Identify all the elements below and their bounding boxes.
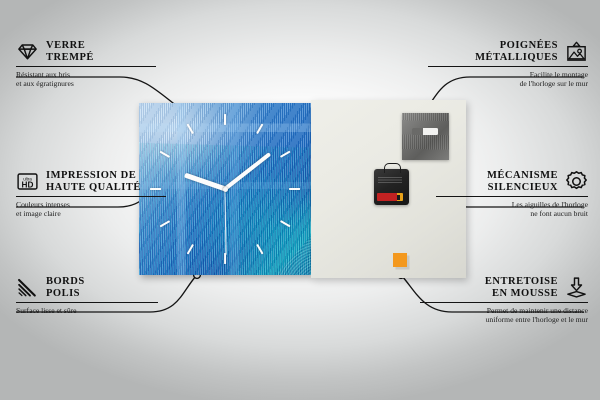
diamond-icon bbox=[16, 40, 39, 63]
feature-header: VERRE TREMPÉ bbox=[16, 40, 156, 63]
feature-title: MÉCANISME SILENCIEUX bbox=[487, 170, 558, 193]
feature-entretoise-en-mousse: ENTRETOISE EN MOUSSE Permet de maintenir… bbox=[420, 276, 588, 324]
metal-hanger-plate bbox=[402, 113, 449, 160]
feature-mecanisme-silencieux: MÉCANISME SILENCIEUX Les aiguilles de l'… bbox=[436, 170, 588, 218]
feature-impression-haute-qualite: ultra HD IMPRESSION DE HAUTE QUALITÉ Cou… bbox=[16, 170, 166, 218]
hanger-slot bbox=[412, 128, 438, 135]
feature-verre-trempe: VERRE TREMPÉ Résistant aux bris et aux é… bbox=[16, 40, 156, 88]
feature-header: ENTRETOISE EN MOUSSE bbox=[420, 276, 588, 299]
feature-divider bbox=[428, 66, 588, 67]
feature-description: Surface lisse et sûre bbox=[16, 306, 158, 315]
ultra-hd-icon: ultra HD bbox=[16, 170, 39, 193]
clock-mechanism-box bbox=[374, 169, 409, 205]
foam-spacer-icon bbox=[565, 276, 588, 299]
feature-title: POIGNÉES MÉTALLIQUES bbox=[475, 40, 558, 63]
ultra-hd-icon-main-text: HD bbox=[22, 180, 34, 189]
infographic-canvas: VERRE TREMPÉ Résistant aux bris et aux é… bbox=[0, 0, 600, 400]
mechanism-hanging-loop bbox=[384, 163, 401, 173]
feature-description: Facilite le montage de l'horloge sur le … bbox=[428, 70, 588, 88]
clock-center-cap bbox=[223, 187, 228, 192]
foam-spacer bbox=[393, 253, 407, 267]
feature-title: ENTRETOISE EN MOUSSE bbox=[485, 276, 558, 299]
feature-bords-polis: BORDS POLIS Surface lisse et sûre bbox=[16, 276, 158, 315]
feature-header: BORDS POLIS bbox=[16, 276, 158, 299]
clock-tick bbox=[225, 188, 301, 190]
feature-description: Couleurs intenses et image claire bbox=[16, 200, 166, 218]
feature-divider bbox=[16, 302, 158, 303]
clock-tick bbox=[224, 113, 226, 189]
mechanism-label bbox=[378, 177, 402, 183]
feature-header: POIGNÉES MÉTALLIQUES bbox=[428, 40, 588, 63]
feature-divider bbox=[16, 66, 156, 67]
feature-title: BORDS POLIS bbox=[46, 276, 85, 299]
feature-description: Permet de maintenir une distance uniform… bbox=[420, 306, 588, 324]
feature-divider bbox=[436, 196, 588, 197]
feature-description: Les aiguilles de l'horloge ne font aucun… bbox=[436, 200, 588, 218]
feature-poignees-metalliques: POIGNÉES MÉTALLIQUES Facilite le montage… bbox=[428, 40, 588, 88]
feature-divider bbox=[420, 302, 588, 303]
gear-icon bbox=[565, 170, 588, 193]
feature-header: MÉCANISME SILENCIEUX bbox=[436, 170, 588, 193]
polished-edges-icon bbox=[16, 276, 39, 299]
feature-title: IMPRESSION DE HAUTE QUALITÉ bbox=[46, 170, 141, 193]
feature-header: ultra HD IMPRESSION DE HAUTE QUALITÉ bbox=[16, 170, 166, 193]
feature-title: VERRE TREMPÉ bbox=[46, 40, 94, 63]
battery bbox=[377, 193, 403, 201]
feature-divider bbox=[16, 196, 166, 197]
picture-hanger-icon bbox=[565, 40, 588, 63]
feature-description: Résistant aux bris et aux égratignures bbox=[16, 70, 156, 88]
